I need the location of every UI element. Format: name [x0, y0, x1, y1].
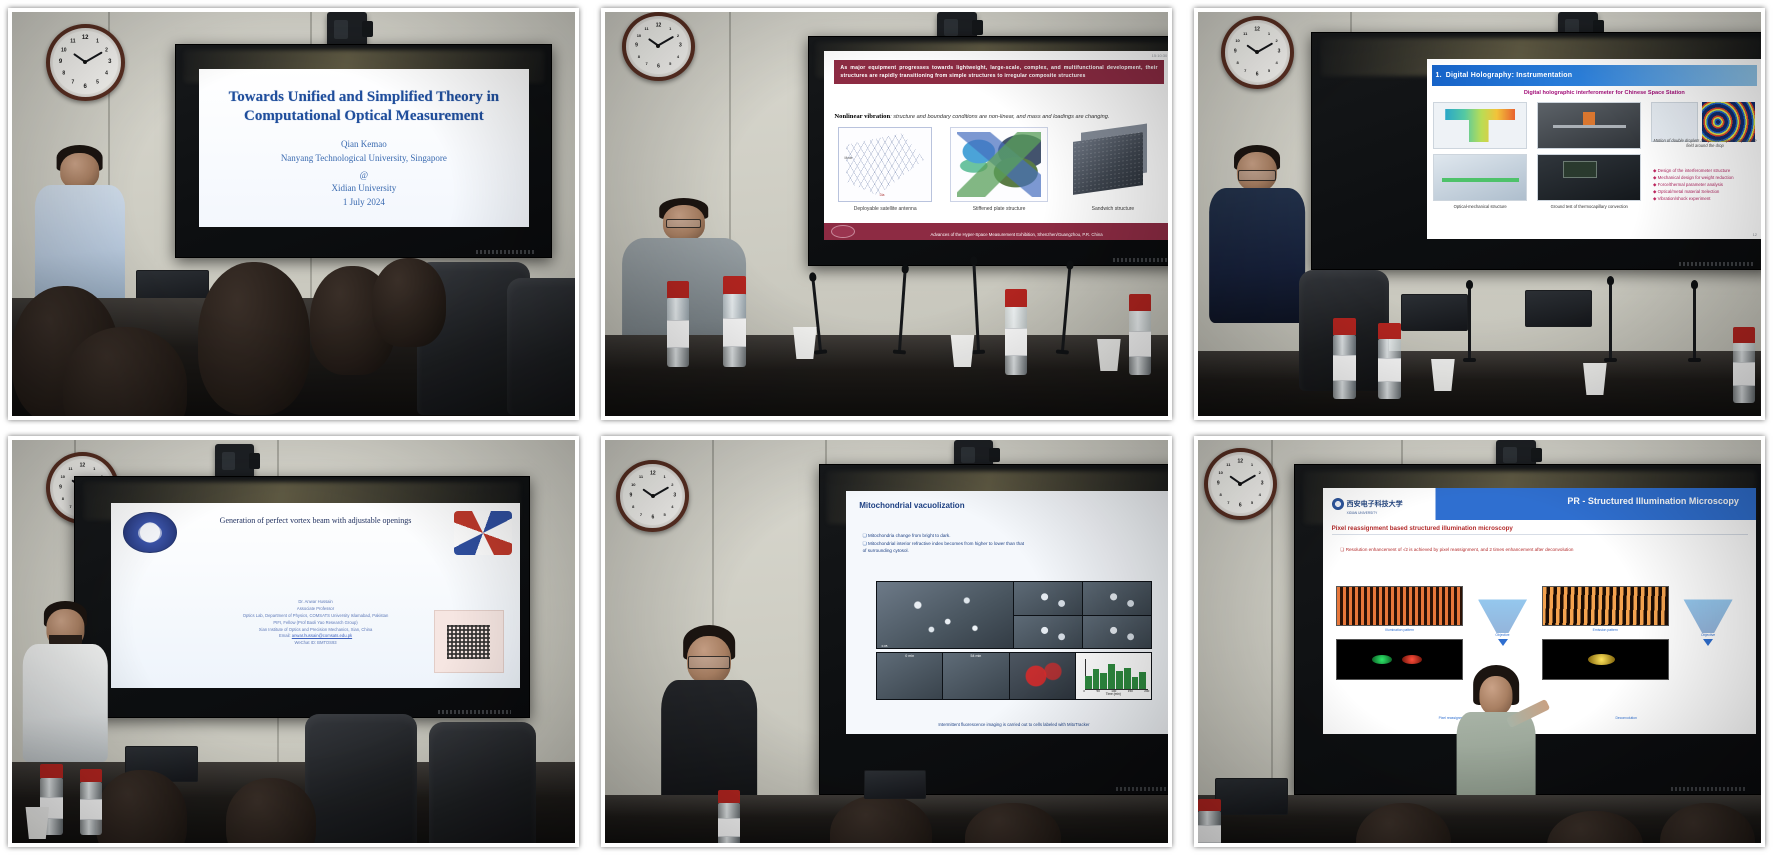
figure-fem-colormap [1433, 102, 1527, 149]
audience-head [372, 258, 445, 347]
university-name-cn: 西安电子科技大学 [1347, 500, 1403, 508]
bottle-label [1733, 362, 1756, 386]
display-ports [1113, 258, 1168, 262]
figure-optical-bench-render [1537, 102, 1641, 149]
presentation-display: 15:10:30 As major equipment progresses t… [808, 36, 1168, 266]
slide-3: 1. Digital Holography: Instrumentation D… [1427, 59, 1762, 238]
laptop [864, 770, 926, 798]
microphone-capsule [1607, 276, 1614, 285]
bottle-label [1129, 331, 1152, 357]
clock-numeral: 5 [669, 62, 671, 66]
slide-header: PR - Structured Illumination Microscopy [1567, 496, 1739, 506]
bottle-cap [723, 276, 746, 295]
clock-minute-hand [85, 51, 103, 62]
clock-numeral: 5 [664, 513, 666, 517]
figure-label: Illumination pattern [1336, 628, 1464, 632]
bottle-label [718, 818, 741, 837]
beam-path [1442, 178, 1519, 181]
university-seal-icon [123, 512, 176, 553]
slide-subheading: Nonlinear vibration: structure and bound… [834, 113, 1163, 120]
emission-pattern-image [1542, 586, 1670, 625]
laptop-lid [1216, 779, 1287, 813]
slide-role: Associate Professor [152, 606, 479, 613]
figure-sandwich [1066, 127, 1161, 203]
bullet-item: Mitochondria change from bright to dark. [863, 532, 1168, 539]
scalebar-label: 0.05 [882, 644, 888, 648]
laptop [1401, 294, 1469, 330]
clock-numeral: 5 [1268, 69, 1270, 73]
bullet-item: Mitochondrial interior refractive index … [863, 540, 1168, 547]
clock-numeral: 9 [635, 44, 638, 49]
presenter [35, 145, 125, 306]
slide-page-number: 12 [1753, 232, 1757, 237]
university-name-en: XIDIAN UNIVERSITY [1347, 511, 1403, 515]
camera-icon [215, 444, 254, 480]
clock-numeral: 7 [640, 513, 642, 517]
microphone-base [1688, 358, 1701, 362]
microphone-base [1463, 358, 1476, 362]
institute-logo-icon [454, 511, 511, 555]
clock-numeral: 12 [656, 23, 662, 28]
clock-numeral: 3 [679, 44, 682, 49]
slide-affiliation-1: Optics Lab, Department of Physics, COMSA… [152, 613, 479, 620]
water-bottle [1005, 307, 1028, 376]
spectrum-image [1336, 639, 1464, 680]
down-arrow-icon [1498, 639, 1508, 646]
slide-title: Mitochondrial vacuolization [859, 501, 964, 510]
display-ports [1116, 787, 1168, 791]
presentation-display: Towards Unified and Simplified Theory in… [175, 44, 552, 258]
clock-numeral: 8 [632, 505, 634, 509]
bottle-cap [80, 769, 103, 783]
bottle-label [80, 799, 103, 820]
figure-optomech-structure [1433, 154, 1527, 201]
bullet-item: Mechanical design for weight reduction [1653, 174, 1757, 181]
photo-gallery-grid: 12 1 2 3 4 5 6 7 8 9 10 11 [0, 0, 1773, 855]
clock-numeral: 10 [631, 483, 635, 487]
microscopy-cell [1014, 616, 1082, 649]
figure-note: Motion of double droplets and phase map … [1653, 138, 1757, 149]
scene-5: 12 3 6 9 1 2 4 5 7 8 10 11 [605, 440, 1168, 844]
microphone [1609, 282, 1612, 359]
clock-numeral: 9 [59, 485, 62, 490]
clock-numeral: 12 [650, 471, 656, 476]
scene-4: 12 3 6 9 1 2 4 5 7 8 10 11 [12, 440, 575, 844]
water-bottle [1378, 339, 1401, 400]
email-label: Email: [279, 633, 291, 638]
figure-label: Objective [1467, 633, 1537, 637]
clock-numeral: 12 [82, 35, 89, 41]
chart-x-label: Time (min) [1076, 692, 1151, 696]
bullet-item: Vibration/shock experiment [1653, 195, 1757, 202]
clock-numeral: 6 [1239, 504, 1242, 509]
audience-head [96, 770, 186, 843]
figure-ground-test-photo [1537, 154, 1641, 201]
slide-subheading-rest: : structure and boundary conditions are … [890, 114, 1109, 120]
spectrum-image [1542, 639, 1670, 680]
clock-numeral: 8 [1220, 493, 1222, 497]
microphone [1693, 286, 1696, 359]
presenter-shirt [23, 644, 107, 762]
slide-author-block: Dr. Anwar Hussain Associate Professor Op… [152, 599, 479, 647]
objective-lens-icon [1478, 599, 1527, 633]
clock-numeral: 9 [1217, 481, 1220, 486]
colormap-graphic [1445, 109, 1515, 143]
display-ports [1679, 262, 1753, 266]
glasses-icon [666, 219, 701, 228]
photo-panel-1[interactable]: 12 1 2 3 4 5 6 7 8 9 10 11 [8, 8, 579, 420]
bottle-cap [1198, 799, 1221, 811]
clock-numeral: 3 [108, 59, 111, 65]
clock-minute-hand [652, 486, 668, 496]
clock-numeral: 4 [677, 55, 679, 59]
figure-caption: Sandwich structure [1059, 206, 1168, 213]
bottle-label [667, 320, 690, 347]
clock-numeral: 5 [96, 81, 99, 86]
email-address[interactable]: anwar.hussain@comsats.edu.pk [292, 633, 352, 638]
laptop-lid [1402, 295, 1468, 329]
bottle-cap [1129, 294, 1152, 311]
clock-center-pin [83, 60, 87, 64]
slide-date: 1 July 2024 [225, 196, 502, 210]
clock-numeral: 4 [1259, 493, 1261, 497]
photo-panel-3[interactable]: 12 3 6 9 1 2 4 5 7 8 10 11 [1194, 8, 1765, 420]
bottle-cap [1333, 318, 1356, 335]
slide-subheading-bold: Nonlinear vibration [834, 113, 890, 120]
photo-panel-6[interactable]: 12 3 6 9 1 2 4 5 7 8 10 11 [1194, 436, 1765, 848]
clock-numeral: 10 [637, 34, 641, 38]
slide-footer-text: Intermittent fluorescence imaging is car… [863, 722, 1166, 727]
microscopy-cell [1014, 582, 1082, 615]
figure-label: Objective [1673, 633, 1743, 637]
clock-numeral: 7 [69, 505, 71, 509]
chart-bar [1100, 673, 1107, 689]
slide-header: 1. Digital Holography: Instrumentation [1432, 65, 1757, 87]
clock-numeral: 4 [1276, 61, 1278, 65]
clock-minute-hand [1240, 474, 1256, 484]
slide-affiliation-2: PIFI, Fellow (Prof Baoli Yao Research Gr… [152, 620, 479, 627]
slide-subheading: Pixel reassignment based structured illu… [1332, 525, 1748, 535]
clock-numeral: 8 [62, 72, 65, 77]
microscopy-image-grid: 0.05 [876, 581, 1152, 649]
sandwich-graphic [1073, 132, 1143, 195]
figure-phase-map [1702, 102, 1756, 141]
clock-minute-hand [658, 36, 673, 46]
illumination-pattern-image [1336, 586, 1464, 625]
presenter-head [1480, 676, 1513, 715]
timelapse-row: 0 min 54 min [876, 652, 1152, 701]
wall-clock: 12 3 6 9 1 2 4 5 7 8 10 11 [1221, 16, 1294, 89]
clock-numeral: 4 [671, 505, 673, 509]
clock-numeral: 5 [1251, 501, 1253, 505]
slide-note: Resolution enhancement of √2 is achieved… [1340, 547, 1743, 554]
image-caption: Optical-mechanical structure [1430, 204, 1531, 209]
slide-footer-text: Advances of the Hyper-Space Measurement … [866, 232, 1167, 237]
clock-numeral: 12 [1254, 28, 1260, 33]
clock-numeral: 1 [96, 39, 99, 44]
figure-y-axis-label: Mode [844, 156, 852, 160]
clock-numeral: 7 [71, 81, 74, 86]
slide-author: Dr. Anwar Hussain [152, 599, 479, 606]
image-caption: Ground test of thermocapillary convectio… [1534, 204, 1645, 209]
slide-1: Towards Unified and Simplified Theory in… [199, 69, 529, 228]
clock-numeral: 7 [1244, 69, 1246, 73]
photo-panel-2[interactable]: 12 3 6 9 1 2 4 5 7 8 10 11 [601, 8, 1172, 420]
clock-center-pin [651, 494, 655, 498]
slide-screen: Mitochondrial vacuolization Mitochondria… [846, 491, 1168, 734]
clock-numeral: 9 [630, 493, 633, 498]
figure-caption: Deployable satellite antenna [831, 206, 940, 213]
bottle-label [1333, 355, 1356, 381]
slide-venue-block: @ Xidian University 1 July 2024 [225, 169, 502, 210]
slide-email-line: Email: anwar.hussain@comsats.edu.pk [152, 633, 479, 640]
slide-screen: Towards Unified and Simplified Theory in… [199, 69, 529, 228]
chart-bar [1085, 676, 1092, 689]
bottle-label [1198, 825, 1221, 843]
slide-id-line: WeChat ID: BMTOS93 [152, 640, 479, 647]
microscopy-cell [1083, 616, 1151, 649]
audience-head [198, 262, 311, 415]
figure-pane: Illumination pattern [1336, 586, 1464, 680]
conference-table [605, 335, 1168, 416]
microphone-capsule [809, 272, 817, 282]
clock-numeral: 6 [1256, 72, 1259, 77]
clock-numeral: 6 [651, 516, 654, 521]
microscopy-cell: 0.05 [877, 582, 1013, 648]
figure-x-axis-label: Dia [880, 193, 885, 197]
table-sheen [605, 335, 1168, 371]
water-bottle [1198, 811, 1221, 843]
figure-pane: Emission pattern [1542, 586, 1670, 680]
slide-author: Qian Kemao [225, 138, 502, 151]
figure-label: Emission pattern [1542, 628, 1670, 632]
qr-code-icon [434, 610, 503, 673]
microphone [1468, 286, 1471, 359]
university-branding: 西安电子科技大学 XIDIAN UNIVERSITY [1332, 493, 1403, 515]
bullet-item-continued: of surrounding cytosol. [863, 547, 1168, 554]
microphone-capsule [901, 264, 909, 273]
clock-numeral: 10 [61, 48, 67, 53]
clock-numeral: 8 [62, 497, 64, 501]
laptop-lid [1526, 291, 1592, 325]
presentation-display: Generation of perfect vortex beam with a… [74, 476, 530, 718]
clock-numeral: 1 [93, 467, 95, 471]
bottle-cap [40, 764, 63, 779]
slide-header-number: 1. [1436, 72, 1442, 79]
slide-header-text: Digital Holography: Instrumentation [1446, 72, 1572, 79]
photo-panel-5[interactable]: 12 3 6 9 1 2 4 5 7 8 10 11 [601, 436, 1172, 848]
display-ports [438, 710, 511, 714]
glasses-icon [1238, 170, 1276, 181]
spectrum-dot [1402, 655, 1422, 664]
clock-numeral: 2 [1276, 39, 1278, 43]
clock-center-pin [1255, 50, 1259, 54]
clock-face: 12 3 6 9 1 2 4 5 7 8 10 11 [629, 19, 688, 74]
wall-clock: 12 1 2 3 4 5 6 7 8 9 10 11 [46, 24, 125, 101]
slide-5: Mitochondrial vacuolization Mitochondria… [846, 491, 1168, 734]
glasses-icon [688, 656, 730, 669]
slide-screen: Generation of perfect vortex beam with a… [111, 503, 520, 688]
presenter-head [60, 153, 100, 189]
timelapse-cell: 54 min [943, 653, 1008, 700]
slide-at: @ [225, 169, 502, 183]
clock-numeral: 2 [671, 483, 673, 487]
clock-minute-hand [1257, 42, 1273, 52]
wall-clock: 12 3 6 9 1 2 4 5 7 8 10 11 [622, 12, 695, 81]
clock-numeral: 9 [1234, 50, 1237, 55]
clock-face: 12 3 6 9 1 2 4 5 7 8 10 11 [1211, 455, 1270, 514]
water-bottle [80, 782, 103, 834]
chair [429, 722, 536, 843]
bench-component [1583, 112, 1595, 125]
presentation-display: 1. Digital Holography: Instrumentation D… [1311, 32, 1761, 270]
water-bottle [667, 298, 690, 367]
university-name-block: 西安电子科技大学 XIDIAN UNIVERSITY [1347, 493, 1403, 515]
scene-2: 12 3 6 9 1 2 4 5 7 8 10 11 [605, 12, 1168, 416]
bottle-cap [1733, 327, 1756, 343]
conference-table [1198, 351, 1761, 416]
down-arrow-icon [1703, 639, 1713, 646]
microphone-base [1604, 358, 1617, 362]
clock-numeral: 11 [1226, 463, 1230, 467]
presenter [23, 601, 107, 762]
bottle-label [1378, 358, 1401, 382]
slide-bullet-list: Mitochondria change from bright to dark.… [863, 532, 1168, 554]
scene-6: 12 3 6 9 1 2 4 5 7 8 10 11 [1198, 440, 1761, 844]
clock-face: 12 3 6 9 1 2 4 5 7 8 10 11 [623, 467, 682, 526]
chart-bar [1124, 668, 1131, 689]
camera-icon [327, 12, 366, 48]
figure-caption: Stiffened plate structure [943, 206, 1055, 213]
wall-clock: 12 3 6 9 1 2 4 5 7 8 10 11 [1204, 448, 1277, 521]
clock-numeral: 12 [1237, 459, 1243, 464]
timelapse-label: 0 min [905, 654, 914, 658]
university-seal-icon [1332, 498, 1344, 510]
slide-4: Generation of perfect vortex beam with a… [111, 503, 520, 688]
clock-numeral: 2 [677, 34, 679, 38]
slide-banner: As major equipment progresses towards li… [834, 60, 1163, 84]
slide-venue: Xidian University [225, 182, 502, 196]
chart-bar [1139, 672, 1146, 689]
clock-numeral: 4 [105, 72, 108, 77]
clock-numeral: 1 [1268, 32, 1270, 36]
presenter-shirt [1209, 188, 1305, 323]
chart-bars [1085, 660, 1147, 689]
slide-timestamp: 15:10:30 [1152, 53, 1168, 58]
spectrum-dot [1372, 655, 1392, 664]
clock-numeral: 1 [669, 27, 671, 31]
slide-title: Generation of perfect vortex beam with a… [185, 516, 447, 527]
clock-numeral: 8 [1236, 61, 1238, 65]
bottom-label: Deconvolution [1574, 716, 1678, 720]
clock-numeral: 9 [59, 59, 62, 65]
timelapse-label: 54 min [971, 654, 982, 658]
figure-setup-diagram [1651, 102, 1698, 141]
water-bottle [723, 294, 746, 367]
clock-numeral: 8 [638, 55, 640, 59]
slide-2: 15:10:30 As major equipment progresses t… [824, 51, 1168, 240]
bottle-cap [1005, 289, 1028, 307]
figure-pane-optics: Objective [1673, 586, 1743, 680]
clock-numeral: 6 [84, 84, 87, 90]
laptop [1215, 778, 1288, 814]
clock-numeral: 11 [1243, 32, 1247, 36]
bullet-item: Force/thermal parameter analysis [1653, 181, 1757, 188]
chair [507, 278, 575, 415]
clock-numeral: 11 [639, 475, 643, 479]
clock-numeral: 2 [105, 48, 108, 53]
clock-numeral: 3 [1261, 481, 1264, 486]
clock-numeral: 12 [80, 463, 86, 468]
clock-numeral: 10 [61, 475, 65, 479]
clock-numeral: 3 [673, 493, 676, 498]
mesh-graphic [846, 133, 924, 195]
microphone-base [972, 350, 985, 355]
figure-deployable-antenna: Mode Dia [838, 127, 933, 203]
clock-numeral: 6 [657, 65, 660, 70]
water-bottle [1333, 335, 1356, 400]
slide-affiliation: Nanyang Technological University, Singap… [225, 152, 502, 165]
clock-numeral: 7 [646, 62, 648, 66]
bottle-cap [718, 790, 741, 803]
scene-1: 12 1 2 3 4 5 6 7 8 9 10 11 [12, 12, 575, 416]
clock-face: 12 1 2 3 4 5 6 7 8 9 10 11 [53, 31, 118, 94]
water-bottle [718, 803, 741, 843]
bottle-label [1005, 328, 1028, 355]
plate-graphic [957, 132, 1042, 197]
slide-screen: 西安电子科技大学 XIDIAN UNIVERSITY PR - Structur… [1323, 488, 1756, 735]
laptop-lid [865, 771, 925, 797]
table-sheen [1198, 351, 1761, 380]
microscopy-cell [1083, 582, 1151, 615]
clock-numeral: 1 [664, 475, 666, 479]
clock-numeral: 11 [645, 27, 649, 31]
display-ports [1671, 787, 1746, 791]
clock-numeral: 3 [1278, 50, 1281, 55]
timelapse-cell: 0 min [877, 653, 942, 700]
spectrum-dot [1588, 654, 1616, 665]
chair [305, 714, 418, 843]
presentation-display: Mitochondrial vacuolization Mitochondria… [819, 464, 1168, 795]
clock-numeral: 10 [1235, 39, 1239, 43]
bar-chart: 0 50 100 150 200 Time (min) [1076, 653, 1151, 700]
clock-numeral: 2 [1259, 471, 1261, 475]
water-bottle [1129, 311, 1152, 376]
microphone-capsule [970, 256, 977, 265]
bottle-cap [667, 281, 690, 299]
water-bottle [1733, 343, 1756, 404]
slide-screen: 15:10:30 As major equipment progresses t… [824, 51, 1168, 240]
slide-title: Towards Unified and Simplified Theory in… [219, 88, 510, 126]
clock-center-pin [1238, 482, 1242, 486]
timelapse-cell-fluorescence [1010, 653, 1075, 700]
presenter [1209, 145, 1305, 323]
slide-author-block: Qian Kemao Nanyang Technological Univers… [225, 138, 502, 164]
slide-6: 西安电子科技大学 XIDIAN UNIVERSITY PR - Structur… [1323, 488, 1756, 735]
figure-row: Illumination pattern Objective [1336, 586, 1743, 680]
laptop [1525, 290, 1593, 326]
objective-lens-icon [1684, 599, 1733, 633]
chart-bar [1132, 677, 1139, 689]
clock-numeral: 11 [70, 39, 75, 44]
scene-3: 12 3 6 9 1 2 4 5 7 8 10 11 [1198, 12, 1761, 416]
slide-affiliation-3: Xian Institute of Optics and Precision M… [152, 627, 479, 634]
slide-bullet-list: Design of the interferometer structure M… [1653, 167, 1757, 203]
display-ports [476, 250, 536, 254]
slide-subtitle: Digital holographic interferometer for C… [1460, 90, 1749, 96]
photo-panel-4[interactable]: 12 3 6 9 1 2 4 5 7 8 10 11 [8, 436, 579, 848]
clock-center-pin [656, 44, 660, 48]
